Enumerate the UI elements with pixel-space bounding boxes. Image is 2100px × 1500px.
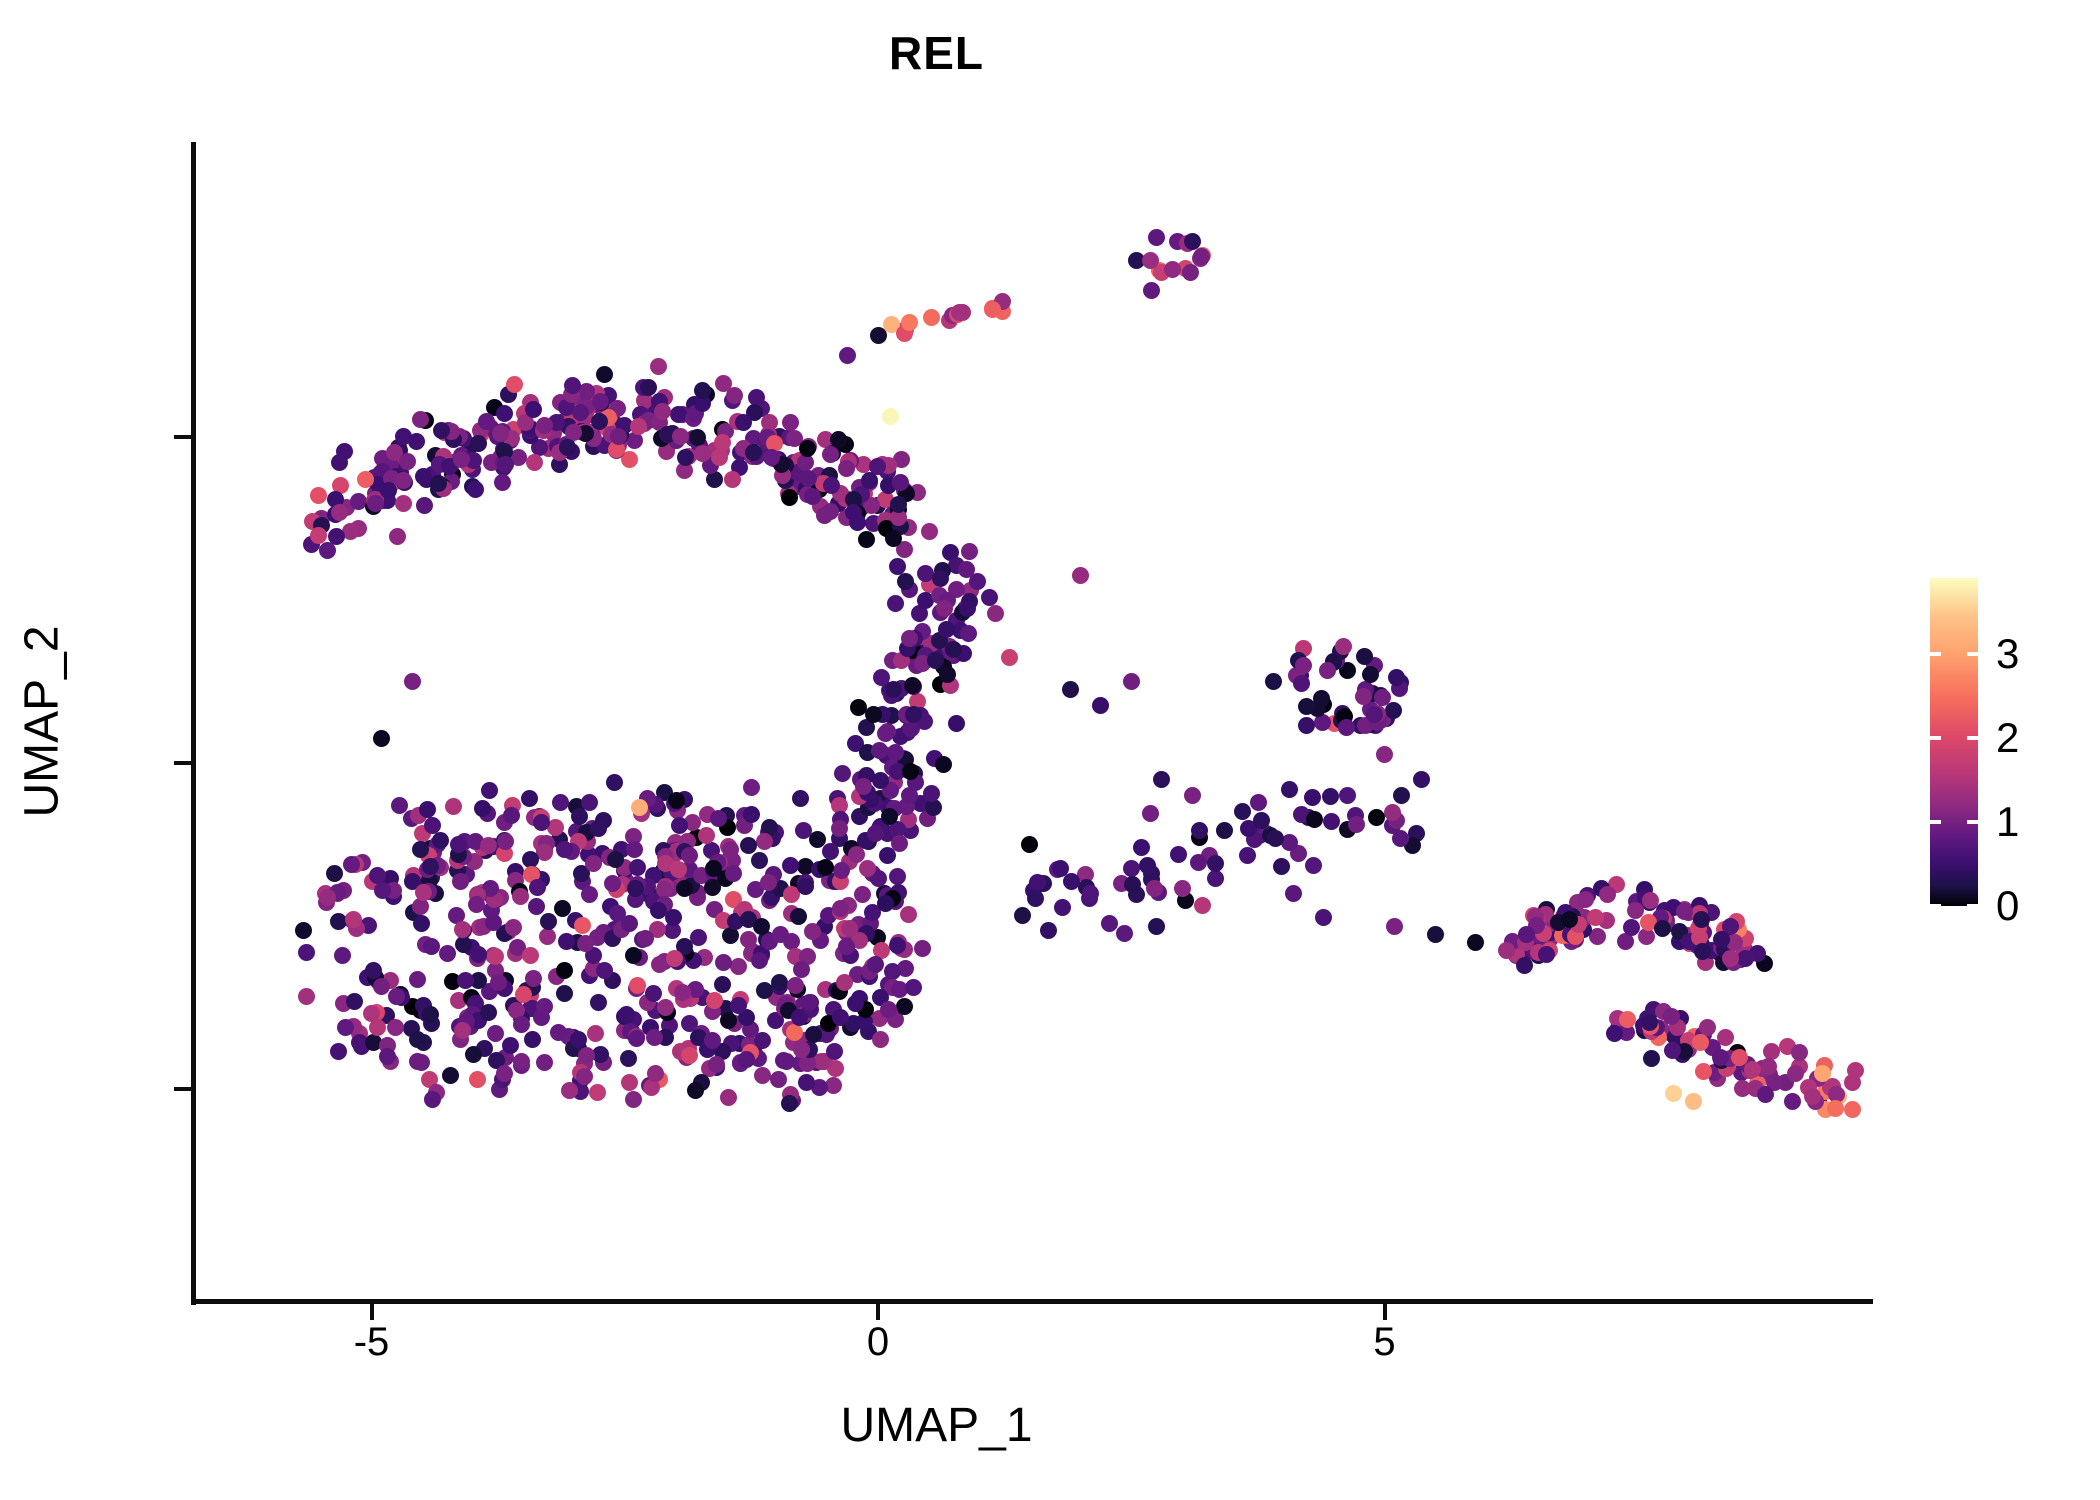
data-point bbox=[345, 911, 362, 928]
colorbar-tick-mark bbox=[1967, 736, 1978, 740]
data-point bbox=[1791, 1044, 1808, 1061]
data-point bbox=[822, 503, 839, 520]
data-point bbox=[470, 946, 487, 963]
data-point bbox=[849, 514, 866, 531]
data-point bbox=[513, 1016, 530, 1033]
data-point bbox=[474, 800, 491, 817]
data-point bbox=[889, 868, 906, 885]
data-point bbox=[1253, 812, 1270, 829]
colorbar-tick-mark bbox=[1930, 820, 1941, 824]
data-point bbox=[1356, 648, 1373, 665]
data-point bbox=[826, 1043, 843, 1060]
data-point bbox=[497, 833, 514, 850]
data-point bbox=[792, 790, 809, 807]
data-point bbox=[833, 862, 850, 879]
data-point bbox=[1170, 846, 1187, 863]
data-point bbox=[800, 470, 817, 487]
data-point bbox=[890, 496, 907, 513]
data-point bbox=[720, 1089, 737, 1106]
data-point bbox=[592, 393, 609, 410]
colorbar-tick-label: 1 bbox=[1996, 798, 2019, 846]
data-point bbox=[772, 926, 789, 943]
data-point bbox=[689, 429, 706, 446]
data-point bbox=[889, 937, 906, 954]
x-tick-mark bbox=[1383, 1303, 1387, 1320]
data-point bbox=[921, 523, 938, 540]
data-point bbox=[932, 570, 949, 587]
data-point bbox=[529, 879, 546, 896]
data-point bbox=[743, 806, 760, 823]
data-point bbox=[357, 471, 374, 488]
data-point bbox=[502, 1037, 519, 1054]
data-point bbox=[681, 1047, 698, 1064]
data-point bbox=[487, 948, 504, 965]
data-point bbox=[465, 1046, 482, 1063]
data-point bbox=[1393, 787, 1410, 804]
data-point bbox=[494, 474, 511, 491]
data-point bbox=[872, 1031, 889, 1048]
data-point bbox=[336, 443, 353, 460]
data-point bbox=[1712, 1049, 1729, 1066]
data-point bbox=[596, 366, 613, 383]
data-point bbox=[442, 1067, 459, 1084]
colorbar-tick-label: 2 bbox=[1996, 714, 2019, 762]
data-point bbox=[1062, 681, 1079, 698]
data-point bbox=[687, 1082, 704, 1099]
colorbar-tick-mark bbox=[1967, 652, 1978, 656]
data-point bbox=[1368, 809, 1385, 826]
data-point bbox=[1305, 857, 1322, 874]
data-point bbox=[625, 947, 642, 964]
data-point bbox=[1599, 886, 1616, 903]
data-point bbox=[677, 449, 694, 466]
data-point bbox=[657, 999, 674, 1016]
data-point bbox=[1784, 1093, 1801, 1110]
data-point bbox=[389, 528, 406, 545]
data-point bbox=[1143, 282, 1160, 299]
data-point bbox=[1695, 1063, 1712, 1080]
data-point bbox=[629, 977, 646, 994]
data-point bbox=[1207, 855, 1224, 872]
data-point bbox=[621, 1074, 638, 1091]
data-point bbox=[650, 358, 667, 375]
data-point bbox=[917, 565, 934, 582]
data-point bbox=[395, 495, 412, 512]
data-point bbox=[897, 573, 914, 590]
data-point bbox=[452, 873, 469, 890]
data-point bbox=[404, 673, 421, 690]
data-point bbox=[326, 865, 343, 882]
data-point bbox=[1146, 880, 1163, 897]
data-point bbox=[525, 401, 542, 418]
data-point bbox=[330, 1043, 347, 1060]
data-point bbox=[730, 997, 747, 1014]
data-point bbox=[865, 706, 882, 723]
data-point bbox=[369, 867, 386, 884]
data-point bbox=[858, 531, 875, 548]
data-point bbox=[751, 952, 768, 969]
data-point bbox=[522, 947, 539, 964]
data-point bbox=[1676, 903, 1693, 920]
data-point bbox=[432, 832, 449, 849]
data-point bbox=[1760, 1058, 1777, 1075]
data-point bbox=[787, 977, 804, 994]
data-point bbox=[724, 471, 741, 488]
data-point bbox=[740, 837, 757, 854]
data-point bbox=[467, 481, 484, 498]
colorbar-tick-mark bbox=[1967, 904, 1978, 908]
data-point bbox=[480, 1004, 497, 1021]
data-point bbox=[904, 677, 921, 694]
y-tick-mark bbox=[174, 1087, 191, 1091]
data-point bbox=[552, 794, 569, 811]
data-point bbox=[1665, 1085, 1682, 1102]
data-point bbox=[607, 851, 624, 868]
data-point bbox=[1538, 946, 1555, 963]
data-point bbox=[319, 542, 336, 559]
x-axis-label: UMAP_1 bbox=[0, 1398, 1873, 1453]
data-point bbox=[1643, 1050, 1660, 1067]
data-point bbox=[799, 440, 816, 457]
data-point bbox=[831, 820, 848, 837]
data-point bbox=[704, 879, 721, 896]
data-point bbox=[423, 938, 440, 955]
data-point bbox=[786, 1024, 803, 1041]
data-point bbox=[1338, 719, 1355, 736]
data-point bbox=[1664, 1042, 1681, 1059]
data-point bbox=[1757, 1086, 1774, 1103]
data-point bbox=[572, 404, 589, 421]
data-point bbox=[556, 985, 573, 1002]
data-point bbox=[539, 928, 556, 945]
data-point bbox=[629, 859, 646, 876]
data-point bbox=[604, 875, 621, 892]
data-point bbox=[1148, 229, 1165, 246]
data-point bbox=[715, 954, 732, 971]
data-point bbox=[1293, 675, 1310, 692]
data-point bbox=[581, 794, 598, 811]
data-point bbox=[838, 460, 855, 477]
data-point bbox=[1413, 771, 1430, 788]
data-point bbox=[1273, 858, 1290, 875]
data-point bbox=[643, 1079, 660, 1096]
data-point bbox=[782, 414, 799, 431]
data-point bbox=[938, 621, 955, 638]
data-point bbox=[1027, 890, 1044, 907]
data-point bbox=[387, 1019, 404, 1036]
data-point bbox=[730, 958, 747, 975]
data-point bbox=[1021, 836, 1038, 853]
data-point bbox=[1194, 897, 1211, 914]
data-point bbox=[738, 1051, 755, 1068]
data-point bbox=[1239, 847, 1256, 864]
data-point bbox=[901, 630, 918, 647]
data-point bbox=[879, 723, 896, 740]
data-point bbox=[506, 376, 523, 393]
data-point bbox=[570, 1031, 587, 1048]
data-point bbox=[1713, 931, 1730, 948]
data-point bbox=[891, 835, 908, 852]
page-title: REL bbox=[0, 26, 1873, 80]
data-point bbox=[1142, 252, 1159, 269]
data-point bbox=[981, 589, 998, 606]
data-point bbox=[536, 998, 553, 1015]
data-point bbox=[481, 782, 498, 799]
data-point bbox=[298, 988, 315, 1005]
colorbar-legend: 3210 bbox=[1930, 578, 1978, 906]
data-point bbox=[399, 453, 416, 470]
data-point bbox=[380, 482, 397, 499]
data-point bbox=[409, 1031, 426, 1048]
data-point bbox=[939, 666, 956, 683]
data-point bbox=[416, 497, 433, 514]
data-point bbox=[1763, 1043, 1780, 1060]
data-point bbox=[415, 884, 432, 901]
data-point bbox=[496, 405, 513, 422]
data-point bbox=[735, 414, 752, 431]
data-point bbox=[960, 625, 977, 642]
umap-feature-plot: REL -50540-4 UMAP_1 UMAP_2 3210 bbox=[0, 0, 2100, 1500]
data-point bbox=[453, 451, 470, 468]
data-point bbox=[801, 994, 818, 1011]
colorbar-gradient bbox=[1930, 578, 1978, 906]
data-point bbox=[587, 1025, 604, 1042]
data-point bbox=[1190, 854, 1207, 871]
data-point bbox=[373, 978, 390, 995]
data-point bbox=[1467, 934, 1484, 951]
plot-panel bbox=[194, 142, 1873, 1302]
data-point bbox=[1054, 899, 1071, 916]
data-point bbox=[439, 945, 456, 962]
data-point bbox=[710, 810, 727, 827]
data-point bbox=[1142, 805, 1159, 822]
data-point bbox=[513, 1053, 530, 1070]
data-point bbox=[496, 1065, 513, 1082]
data-point bbox=[1014, 907, 1031, 924]
data-point bbox=[770, 1071, 787, 1088]
data-point bbox=[413, 915, 430, 932]
data-point bbox=[753, 918, 770, 935]
data-point bbox=[870, 327, 887, 344]
data-point bbox=[578, 1047, 595, 1064]
data-point bbox=[1348, 816, 1365, 833]
data-point bbox=[581, 886, 598, 903]
data-point bbox=[1734, 1080, 1751, 1097]
data-point bbox=[817, 859, 834, 876]
data-point bbox=[715, 375, 732, 392]
data-point bbox=[470, 435, 487, 452]
data-point bbox=[1339, 787, 1356, 804]
data-point bbox=[457, 972, 474, 989]
data-point bbox=[793, 961, 810, 978]
data-point bbox=[1693, 911, 1710, 928]
data-point bbox=[1267, 830, 1284, 847]
data-point bbox=[528, 898, 545, 915]
data-point bbox=[1844, 1074, 1861, 1091]
data-point bbox=[363, 1005, 380, 1022]
colorbar-tick-label: 3 bbox=[1996, 630, 2019, 678]
data-point bbox=[927, 652, 944, 669]
data-point bbox=[1374, 689, 1391, 706]
data-point bbox=[1082, 885, 1099, 902]
data-point bbox=[1376, 746, 1393, 763]
data-point bbox=[1193, 248, 1210, 265]
data-point bbox=[841, 920, 858, 937]
data-point bbox=[896, 998, 913, 1015]
data-point bbox=[961, 543, 978, 560]
y-axis-line bbox=[191, 142, 196, 1305]
data-point bbox=[704, 1032, 721, 1049]
data-point bbox=[882, 408, 899, 425]
data-point bbox=[1133, 839, 1150, 856]
data-point bbox=[1844, 1101, 1861, 1118]
data-point bbox=[1366, 706, 1383, 723]
data-point bbox=[1498, 942, 1515, 959]
data-point bbox=[589, 1084, 606, 1101]
data-point bbox=[839, 347, 856, 364]
data-point bbox=[1315, 909, 1332, 926]
data-point bbox=[708, 1056, 725, 1073]
data-point bbox=[319, 889, 336, 906]
data-point bbox=[625, 1091, 642, 1108]
data-point bbox=[855, 778, 872, 795]
data-point bbox=[836, 974, 853, 991]
data-point bbox=[923, 785, 940, 802]
data-point bbox=[524, 1031, 541, 1048]
data-point bbox=[1072, 567, 1089, 584]
data-point bbox=[1787, 1065, 1804, 1082]
data-point bbox=[1184, 787, 1201, 804]
data-point bbox=[1685, 1093, 1702, 1110]
data-point bbox=[951, 304, 968, 321]
data-point bbox=[574, 917, 591, 934]
data-point bbox=[610, 428, 627, 445]
data-point bbox=[618, 1006, 635, 1023]
data-point bbox=[1319, 662, 1336, 679]
data-point bbox=[867, 956, 884, 973]
data-point bbox=[867, 825, 884, 842]
data-point bbox=[373, 730, 390, 747]
data-point bbox=[1123, 673, 1140, 690]
data-point bbox=[1207, 870, 1224, 887]
data-point bbox=[754, 1067, 771, 1084]
data-point bbox=[1265, 673, 1282, 690]
data-point bbox=[725, 865, 742, 882]
data-point bbox=[756, 833, 773, 850]
data-point bbox=[1322, 788, 1339, 805]
data-point bbox=[556, 841, 573, 858]
data-point bbox=[536, 1054, 553, 1071]
data-point bbox=[409, 971, 426, 988]
data-point bbox=[596, 962, 613, 979]
data-point bbox=[782, 857, 799, 874]
data-point bbox=[559, 439, 576, 456]
data-point bbox=[914, 940, 931, 957]
data-point bbox=[1182, 264, 1199, 281]
data-point bbox=[877, 895, 894, 912]
data-point bbox=[556, 962, 573, 979]
data-point bbox=[1384, 804, 1401, 821]
data-point bbox=[346, 993, 363, 1010]
data-point bbox=[454, 1022, 471, 1039]
data-point bbox=[630, 418, 647, 435]
data-point bbox=[621, 915, 638, 932]
data-point bbox=[790, 908, 807, 925]
x-tick-mark bbox=[370, 1303, 374, 1320]
data-point bbox=[590, 820, 607, 837]
y-axis-label: UMAP_2 bbox=[15, 442, 70, 1002]
data-point bbox=[1116, 925, 1133, 942]
data-point bbox=[365, 962, 382, 979]
data-point bbox=[334, 947, 351, 964]
data-point bbox=[487, 1025, 504, 1042]
data-point bbox=[379, 1048, 396, 1065]
data-point bbox=[536, 417, 553, 434]
data-point bbox=[1001, 649, 1018, 666]
data-point bbox=[923, 309, 940, 326]
data-point bbox=[1234, 803, 1251, 820]
colorbar-tick-label: 0 bbox=[1996, 882, 2019, 930]
data-point bbox=[1174, 880, 1191, 897]
data-point bbox=[936, 600, 953, 617]
data-point bbox=[424, 1091, 441, 1108]
data-point bbox=[1304, 789, 1321, 806]
data-point bbox=[959, 600, 976, 617]
data-point bbox=[419, 801, 436, 818]
data-point bbox=[771, 974, 788, 991]
y-tick-mark bbox=[174, 761, 191, 765]
data-point bbox=[450, 836, 467, 853]
data-point bbox=[1323, 813, 1340, 830]
data-point bbox=[1731, 1049, 1748, 1066]
x-tick-label: -5 bbox=[354, 1320, 390, 1365]
data-point bbox=[295, 922, 312, 939]
data-point bbox=[298, 944, 315, 961]
data-point bbox=[512, 888, 529, 905]
data-point bbox=[781, 1095, 798, 1112]
data-point bbox=[310, 487, 327, 504]
data-point bbox=[905, 979, 922, 996]
data-point bbox=[885, 530, 902, 547]
data-point bbox=[1827, 1100, 1844, 1117]
data-point bbox=[1577, 891, 1594, 908]
data-point bbox=[620, 1050, 637, 1067]
data-point bbox=[478, 413, 495, 430]
data-point bbox=[1587, 909, 1604, 926]
data-point bbox=[445, 798, 462, 815]
data-point bbox=[958, 561, 975, 578]
data-point bbox=[987, 605, 1004, 622]
data-point bbox=[714, 976, 731, 993]
data-point bbox=[809, 831, 826, 848]
colorbar-tick-mark bbox=[1967, 820, 1978, 824]
data-point bbox=[1250, 794, 1267, 811]
data-point bbox=[1814, 1065, 1831, 1082]
data-point bbox=[671, 817, 688, 834]
data-point bbox=[637, 930, 654, 947]
data-point bbox=[1092, 697, 1109, 714]
data-point bbox=[606, 774, 623, 791]
data-point bbox=[369, 1019, 386, 1036]
data-point bbox=[1124, 876, 1141, 893]
data-point bbox=[743, 779, 760, 796]
data-point bbox=[585, 855, 602, 872]
data-point bbox=[503, 807, 520, 824]
data-point bbox=[900, 906, 917, 923]
x-tick-label: 5 bbox=[1373, 1320, 1395, 1365]
data-point bbox=[591, 413, 608, 430]
data-point bbox=[711, 449, 728, 466]
